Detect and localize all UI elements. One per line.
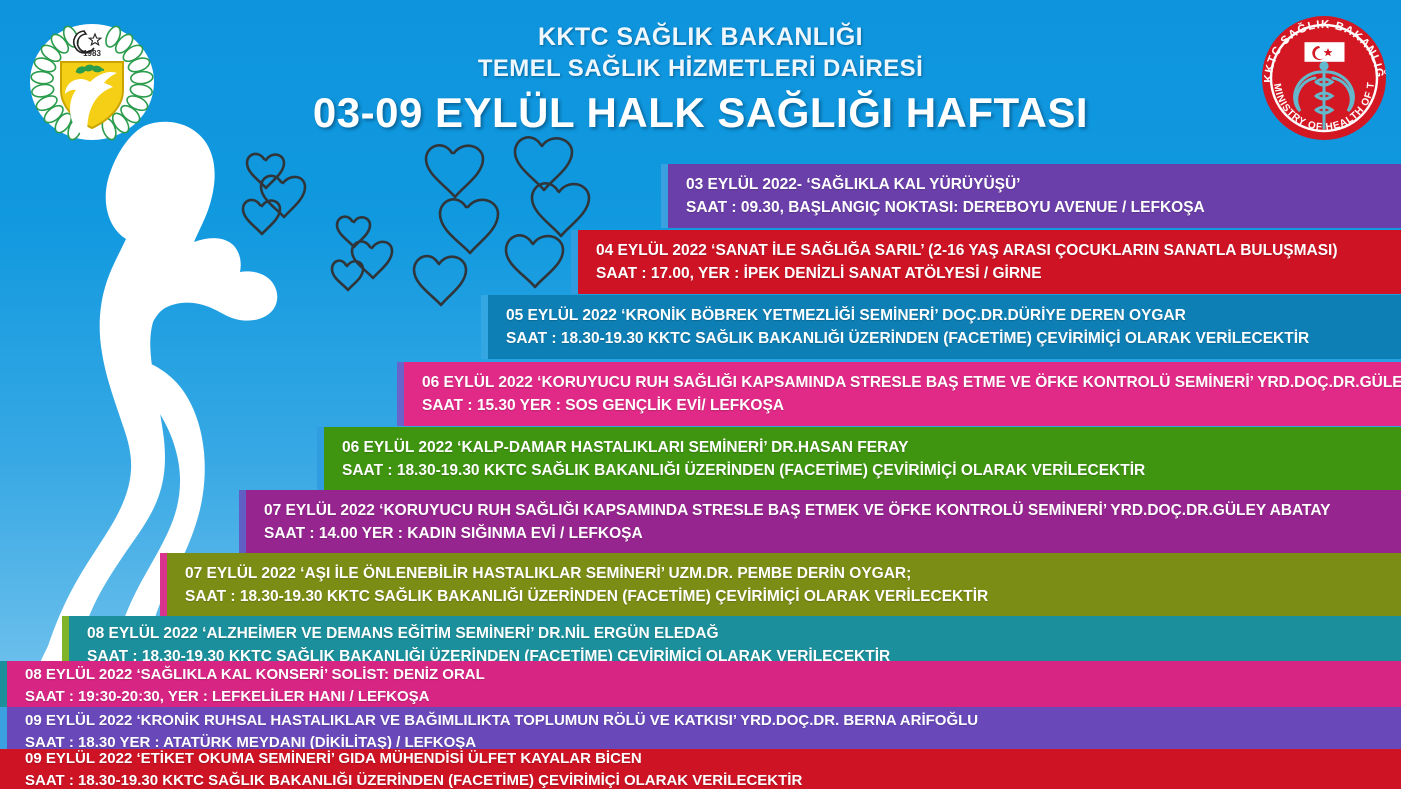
event-detail-line: SAAT : 18.30-19.30 KKTC SAĞLIK BAKANLIĞI…	[506, 330, 1393, 348]
event-title-line: 07 EYLÜL 2022 ‘KORUYUCU RUH SAĞLIĞI KAPS…	[264, 502, 1393, 520]
event-bar: 03 EYLÜL 2022- ‘SAĞLIKLA KAL YÜRÜYÜŞÜ’SA…	[661, 164, 1401, 228]
event-detail-line: SAAT : 19:30-20:30, YER : LEFKELİLER HAN…	[25, 688, 1393, 705]
event-title-line: 09 EYLÜL 2022 ‘ETİKET OKUMA SEMİNERİ’ GI…	[25, 750, 1393, 767]
event-detail-line: SAAT : 18.30-19.30 KKTC SAĞLIK BAKANLIĞI…	[342, 462, 1393, 480]
event-detail-line: SAAT : 14.00 YER : KADIN SIĞINMA EVİ / L…	[264, 525, 1393, 543]
event-detail-line: SAAT : 15.30 YER : SOS GENÇLİK EVİ/ LEFK…	[422, 397, 1393, 415]
event-schedule-list: 03 EYLÜL 2022- ‘SAĞLIKLA KAL YÜRÜYÜŞÜ’SA…	[0, 0, 1401, 789]
event-title-line: 03 EYLÜL 2022- ‘SAĞLIKLA KAL YÜRÜYÜŞÜ’	[686, 176, 1393, 194]
event-title-line: 09 EYLÜL 2022 ‘KRONİK RUHSAL HASTALIKLAR…	[25, 712, 1393, 729]
event-detail-line: SAAT : 18.30-19.30 KKTC SAĞLIK BAKANLIĞI…	[185, 588, 1393, 606]
event-title-line: 06 EYLÜL 2022 ‘KORUYUCU RUH SAĞLIĞI KAPS…	[422, 374, 1393, 392]
event-bar: 08 EYLÜL 2022 ‘SAĞLIKLA KAL KONSERİ’ SOL…	[0, 661, 1401, 709]
event-title-line: 04 EYLÜL 2022 ‘SANAT İLE SAĞLIĞA SARIL’ …	[596, 242, 1393, 260]
event-detail-line: SAAT : 18.30 YER : ATATÜRK MEYDANI (DİKİ…	[25, 734, 1393, 751]
event-title-line: 08 EYLÜL 2022 ‘SAĞLIKLA KAL KONSERİ’ SOL…	[25, 666, 1393, 683]
event-bar: 04 EYLÜL 2022 ‘SANAT İLE SAĞLIĞA SARIL’ …	[571, 230, 1401, 294]
event-title-line: 05 EYLÜL 2022 ‘KRONİK BÖBREK YETMEZLİĞİ …	[506, 307, 1393, 325]
event-bar: 07 EYLÜL 2022 ‘KORUYUCU RUH SAĞLIĞI KAPS…	[239, 490, 1401, 554]
event-detail-line: SAAT : 09.30, BAŞLANGIÇ NOKTASI: DEREBOY…	[686, 199, 1393, 217]
event-title-line: 07 EYLÜL 2022 ‘AŞI İLE ÖNLENEBİLİR HASTA…	[185, 565, 1393, 583]
event-bar: 09 EYLÜL 2022 ‘KRONİK RUHSAL HASTALIKLAR…	[0, 707, 1401, 755]
event-detail-line: SAAT : 17.00, YER : İPEK DENİZLİ SANAT A…	[596, 265, 1393, 283]
event-bar: 06 EYLÜL 2022 ‘KALP-DAMAR HASTALIKLARI S…	[317, 427, 1401, 491]
public-health-week-poster: 1983 KKTC SAĞLIK BAKANLIĞI TEMEL SAĞLIK …	[0, 0, 1401, 789]
event-title-line: 06 EYLÜL 2022 ‘KALP-DAMAR HASTALIKLARI S…	[342, 439, 1393, 457]
event-title-line: 08 EYLÜL 2022 ‘ALZHEİMER VE DEMANS EĞİTİ…	[87, 625, 1393, 643]
event-detail-line: SAAT : 18.30-19.30 KKTC SAĞLIK BAKANLIĞI…	[25, 772, 1393, 789]
event-bar: 05 EYLÜL 2022 ‘KRONİK BÖBREK YETMEZLİĞİ …	[481, 295, 1401, 359]
event-bar: 07 EYLÜL 2022 ‘AŞI İLE ÖNLENEBİLİR HASTA…	[160, 553, 1401, 617]
event-bar: 09 EYLÜL 2022 ‘ETİKET OKUMA SEMİNERİ’ GI…	[0, 749, 1401, 789]
event-bar: 06 EYLÜL 2022 ‘KORUYUCU RUH SAĞLIĞI KAPS…	[397, 362, 1401, 426]
